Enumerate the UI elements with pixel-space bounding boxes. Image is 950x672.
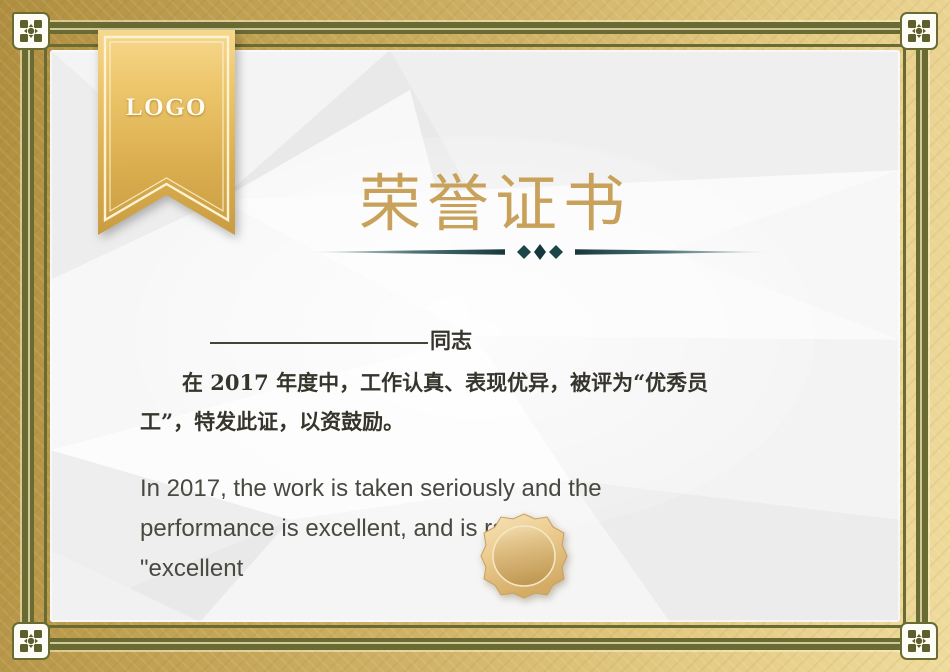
certificate-page: 荣誉证书 [0, 0, 950, 672]
recipient-line: 同志 [210, 325, 870, 355]
issuing-company: 广东XXXX科技有限公司 [140, 619, 870, 622]
wax-seal-icon [479, 512, 569, 600]
chinese-citation: 在 2017 年度中，工作认真、表现优异，被评为“优秀员工”，特发此证，以资鼓励… [140, 363, 760, 441]
logo-label: LOGO [98, 94, 235, 122]
signature-block: 广东XXXX科技有限公司 2017 年 5 月 10 日 [140, 619, 870, 622]
corner-ornament-icon-top-right [900, 12, 938, 50]
ribbon-banner-icon: LOGO [98, 30, 235, 235]
corner-ornament-icon-bottom-right [900, 622, 938, 660]
recipient-suffix: 同志 [430, 328, 472, 353]
corner-ornament-icon-bottom-left [12, 622, 50, 660]
diamond-divider-icon [305, 240, 775, 264]
recipient-name-blank[interactable] [210, 342, 428, 344]
corner-ornament-icon-top-left [12, 12, 50, 50]
